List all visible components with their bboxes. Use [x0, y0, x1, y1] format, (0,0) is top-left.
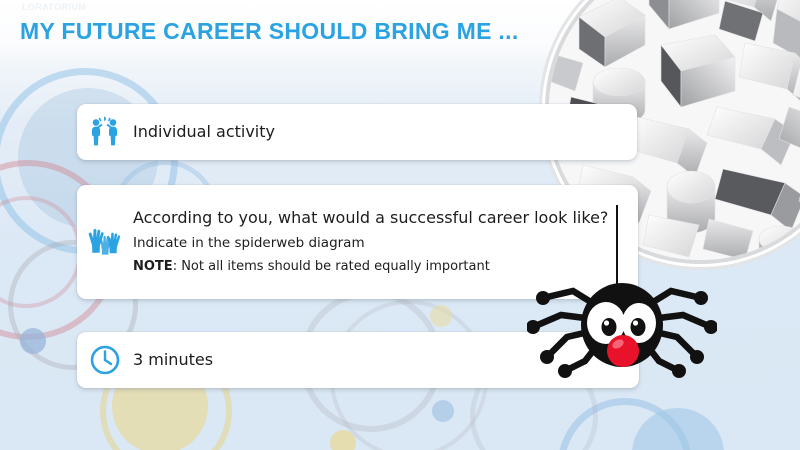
slide-canvas: LORATORIUM MY FUTURE CAREER SHOULD BRING…: [0, 0, 800, 450]
decor-circle-ring-pink-small: [0, 196, 82, 308]
cartoon-spider: [527, 205, 717, 375]
two-people-high-five-icon: [77, 115, 133, 149]
clock-icon: [77, 344, 133, 376]
raised-hands-icon: [77, 222, 133, 262]
card-activity-type[interactable]: Individual activity: [77, 104, 637, 160]
title-ghost-text: LORATORIUM: [22, 2, 86, 12]
card-task-note-label: NOTE: [133, 259, 173, 274]
page-title: MY FUTURE CAREER SHOULD BRING ME ...: [20, 18, 519, 45]
decor-circle-fill-yellow-small: [330, 430, 356, 450]
spider-nose: [607, 335, 639, 367]
card-activity-type-text: Individual activity: [133, 122, 623, 142]
card-activity-type-body: Individual activity: [133, 122, 637, 142]
decor-circle-fill-blue-dot2: [432, 400, 454, 422]
decor-circle-fill-blue-dot1: [20, 328, 46, 354]
decor-circle-fill-yellow-mini: [430, 305, 452, 327]
card-task-note-text: : Not all items should be rated equally …: [173, 259, 490, 274]
spider-svg: [527, 265, 717, 435]
